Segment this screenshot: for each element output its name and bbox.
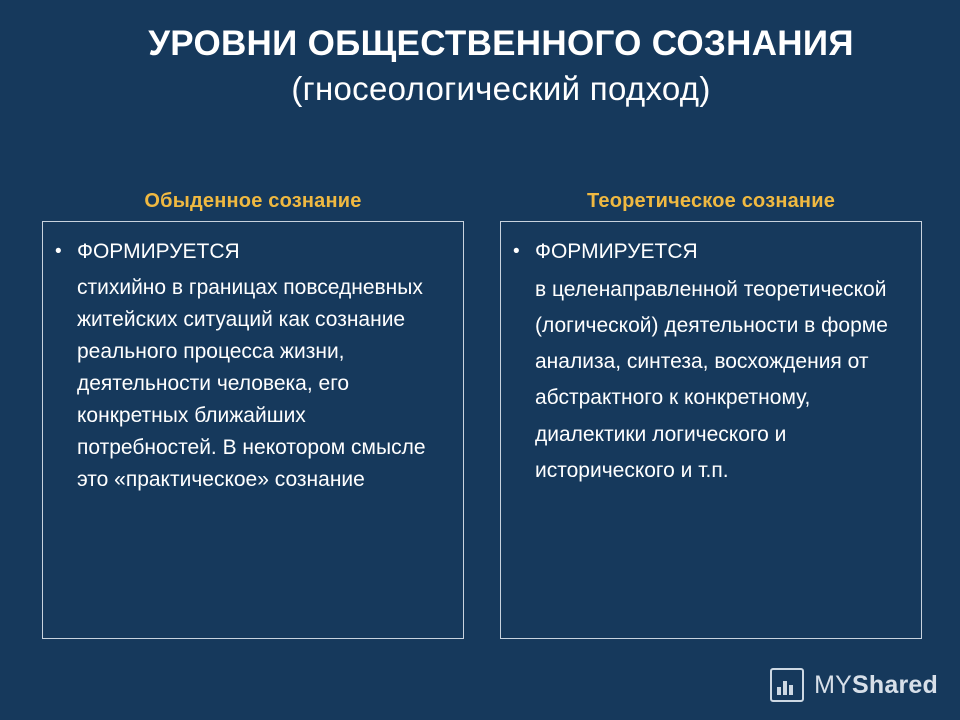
column-box-right: • ФОРМИРУЕТСЯ в целенаправленной теорети… <box>500 221 922 639</box>
bullet-dot-icon: • <box>55 238 77 266</box>
column-heading-left: Обыденное сознание <box>42 190 464 213</box>
watermark: MYShared <box>770 668 938 702</box>
bullet-item-right: • ФОРМИРУЕТСЯ <box>513 238 907 266</box>
watermark-text-bold: Shared <box>852 671 938 699</box>
body-text-left: стихийно в границах повседневных житейск… <box>55 272 449 495</box>
title-main: УРОВНИ ОБЩЕСТВЕННОГО СОЗНАНИЯ <box>148 24 854 63</box>
column-box-left: • ФОРМИРУЕТСЯ стихийно в границах повсед… <box>42 221 464 639</box>
bullet-item-left: • ФОРМИРУЕТСЯ <box>55 238 449 266</box>
bullet-label-right: ФОРМИРУЕТСЯ <box>535 238 907 266</box>
column-theoretical-consciousness: Теоретическое сознание • ФОРМИРУЕТСЯ в ц… <box>500 190 922 639</box>
column-ordinary-consciousness: Обыденное сознание • ФОРМИРУЕТСЯ стихийн… <box>42 190 464 639</box>
bullet-dot-icon: • <box>513 238 535 266</box>
watermark-text: MYShared <box>814 671 938 700</box>
column-heading-right: Теоретическое сознание <box>500 190 922 213</box>
slide: УРОВНИ ОБЩЕСТВЕННОГО СОЗНАНИЯ (гносеолог… <box>0 0 960 720</box>
bullet-label-left: ФОРМИРУЕТСЯ <box>77 238 449 266</box>
body-text-right: в целенаправленной теоретической (логиче… <box>513 272 907 489</box>
title-sub: (гносеологический подход) <box>291 70 710 107</box>
bar-chart-icon <box>770 668 804 702</box>
watermark-text-light: MY <box>814 671 852 699</box>
columns-container: Обыденное сознание • ФОРМИРУЕТСЯ стихийн… <box>42 190 922 639</box>
page-title: УРОВНИ ОБЩЕСТВЕННОГО СОЗНАНИЯ (гносеолог… <box>96 22 906 112</box>
